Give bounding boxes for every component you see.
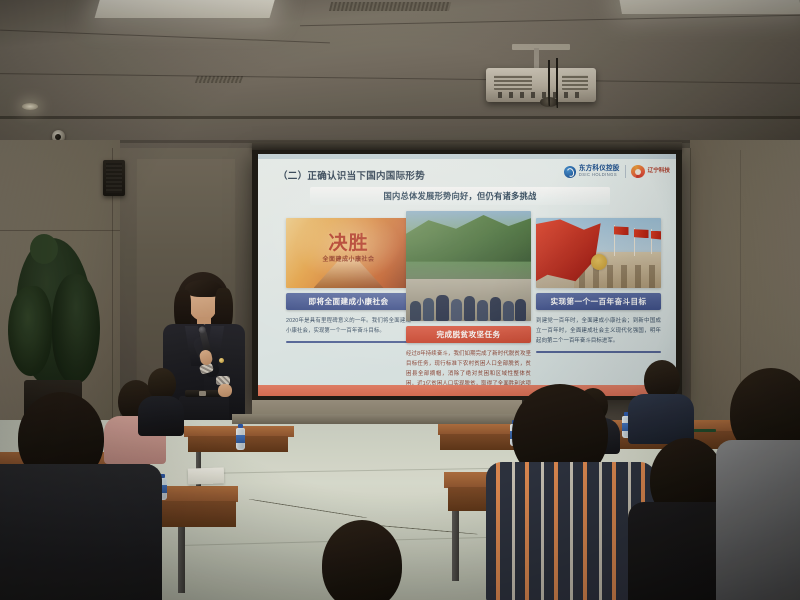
projector-ports bbox=[498, 92, 582, 98]
conference-room-scene: （二）正确认识当下国内国际形势 东方科仪控股 DSIC HOLDINGS 辽宁科… bbox=[0, 0, 800, 600]
notebook bbox=[188, 467, 225, 484]
projector-cable bbox=[548, 60, 550, 106]
ceiling-projector bbox=[486, 68, 596, 102]
poster-headline: 决胜 bbox=[328, 228, 368, 255]
audience-member-foreground bbox=[292, 520, 432, 600]
presenter-lapel-pin bbox=[219, 358, 224, 363]
audience-torso bbox=[716, 440, 800, 600]
presenter-hand bbox=[218, 384, 232, 397]
ceiling-edge bbox=[0, 116, 800, 119]
column-1-rule bbox=[286, 341, 411, 343]
national-emblem-icon bbox=[591, 254, 607, 270]
projector-vent bbox=[494, 75, 532, 90]
audience-torso bbox=[0, 464, 162, 600]
logo-divider bbox=[625, 165, 626, 178]
projector-mount-plate bbox=[512, 44, 570, 50]
secondary-partner-logo: 辽宁科技 bbox=[631, 165, 670, 178]
projection-screen: （二）正确认识当下国内国际形势 东方科仪控股 DSIC HOLDINGS 辽宁科… bbox=[258, 154, 676, 396]
slide-title: （二）正确认识当下国内国际形势 bbox=[278, 168, 425, 182]
juesheng-poster-photo: 决胜 全面建成小康社会 bbox=[286, 218, 411, 288]
column-3-caption: 实现第一个一百年奋斗目标 bbox=[536, 293, 661, 310]
presentation-slide: （二）正确认识当下国内国际形势 东方科仪控股 DSIC HOLDINGS 辽宁科… bbox=[258, 154, 676, 396]
desk-leg bbox=[452, 511, 459, 581]
ceiling-panel-light bbox=[618, 0, 800, 14]
ceiling-panel-light bbox=[95, 0, 277, 18]
slide-logo-group: 东方科仪控股 DSIC HOLDINGS 辽宁科技 bbox=[564, 165, 670, 178]
slide-columns: 决胜 全面建成小康社会 即将全面建成小康社会 2020年是具有里程碑意义的一年。… bbox=[258, 212, 676, 387]
column-3-body: 到建党一百年时，全面建成小康社会；到新中国成立一百年时，全面建成社会主义现代化强… bbox=[536, 316, 661, 346]
column-1-caption: 即将全面建成小康社会 bbox=[286, 293, 411, 310]
dsic-holdings-logo: 东方科仪控股 DSIC HOLDINGS bbox=[564, 166, 620, 178]
partner-logo-mark-icon bbox=[631, 165, 645, 178]
dsic-logo-en-text: DSIC HOLDINGS bbox=[579, 173, 620, 177]
column-2-caption: 完成脱贫攻坚任务 bbox=[406, 326, 531, 343]
audience-member-foreground bbox=[716, 368, 800, 600]
slide-subtitle: 国内总体发展形势向好，但仍有诸多挑战 bbox=[384, 190, 537, 202]
water-bottle bbox=[236, 424, 245, 450]
slide-top-accent-bar bbox=[258, 154, 676, 159]
column-3-rule bbox=[536, 351, 661, 353]
audience-member-foreground bbox=[0, 392, 162, 600]
slide-subtitle-box: 国内总体发展形势向好，但仍有诸多挑战 bbox=[310, 187, 610, 205]
slide-column-1: 决胜 全面建成小康社会 即将全面建成小康社会 2020年是具有里程碑意义的一年。… bbox=[286, 218, 411, 343]
slide-column-2: 完成脱贫攻坚任务 经过8年持续奋斗，我们如期完成了新时代脱贫攻坚目标任务，现行标… bbox=[406, 211, 531, 396]
slide-column-3: 实现第一个一百年奋斗目标 到建党一百年时，全面建成小康社会；到新中国成立一百年时… bbox=[536, 218, 661, 353]
wall-speaker bbox=[103, 160, 125, 196]
national-flags-photo bbox=[536, 218, 661, 288]
desk-leg bbox=[178, 527, 185, 593]
recessed-downlight bbox=[22, 103, 38, 110]
projector-cable bbox=[556, 58, 558, 108]
partner-logo-text: 辽宁科技 bbox=[648, 168, 670, 174]
column-1-body: 2020年是具有里程碑意义的一年。我们将全面建成小康社会，实现第一个一百年奋斗目… bbox=[286, 316, 411, 336]
poster-subline: 全面建成小康社会 bbox=[322, 254, 374, 263]
projector-vent bbox=[562, 75, 588, 90]
projector-mount-arm bbox=[534, 48, 539, 70]
ceiling-vent bbox=[195, 76, 244, 83]
dsic-logo-mark-icon bbox=[564, 166, 576, 178]
ceiling-vent bbox=[329, 2, 451, 11]
audience-head bbox=[322, 520, 402, 600]
village-poverty-relief-photo bbox=[406, 211, 531, 321]
presenter-belt bbox=[185, 390, 221, 397]
